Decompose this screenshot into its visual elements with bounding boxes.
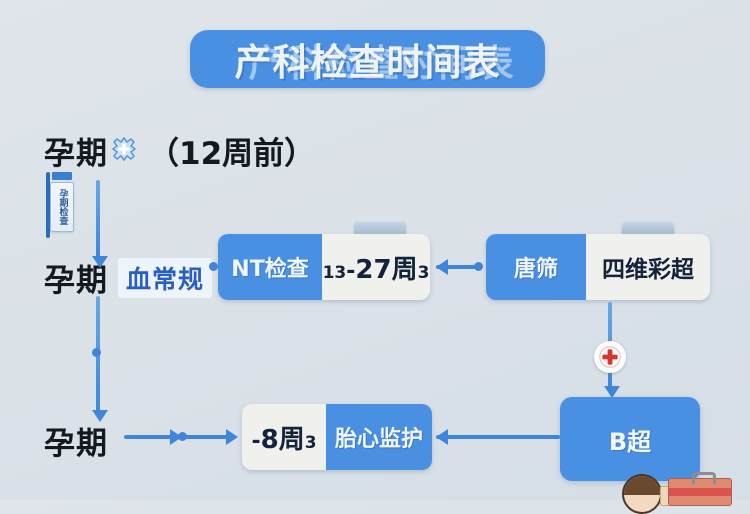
node-nt-exam[interactable]: NT检查: [218, 234, 322, 300]
doctor-hair: [624, 476, 660, 495]
node-week-range-1: 13 - 27 周 3: [322, 234, 430, 300]
week-sup-2: 3: [305, 433, 317, 453]
week-unit-2: 周: [279, 419, 305, 456]
side-tag-text: 孕期检查: [58, 189, 67, 225]
node-fetal-group[interactable]: - 8 周 3 胎心监护: [242, 404, 432, 470]
row-label-pregnancy-3: 孕期: [44, 418, 108, 463]
connector-row3-arrow-2: [226, 429, 238, 445]
blood-test-badge[interactable]: 血常规: [118, 258, 212, 298]
node-tangshai-group[interactable]: 唐筛 四维彩超: [486, 234, 710, 300]
week-dash-1: -: [346, 259, 355, 284]
connector-dot-row2-right: [474, 262, 483, 271]
title-pill: 产科检查时间表 产科检查时间表: [190, 30, 545, 88]
week-dash-2: -: [251, 429, 260, 454]
side-tag-chip: [52, 172, 72, 180]
connector-dot-vline: [92, 348, 101, 357]
connector-row2-arrow-left: [436, 259, 448, 275]
flowchart-canvas: 产科检查时间表 产科检查时间表 孕期 （12周前） 孕期检查 孕期 血常规 NT…: [0, 0, 750, 500]
blue-cross-icon: [112, 137, 136, 161]
connector-vline-upper-arrow: [92, 256, 108, 268]
node-four-d-ultrasound[interactable]: 四维彩超: [586, 234, 710, 300]
node-week-range-2: - 8 周 3: [242, 404, 326, 470]
red-cross-icon: [594, 341, 626, 373]
node-nt-group[interactable]: NT检查 13 - 27 周 3: [218, 234, 430, 300]
week-to-2: 8: [261, 425, 279, 455]
node-tang-screen[interactable]: 唐筛: [486, 234, 586, 300]
connector-dot-row3-a: [178, 432, 187, 441]
week-from-1: 13: [323, 263, 347, 283]
node-fetal-heart-monitor[interactable]: 胎心监护: [326, 404, 432, 470]
week-to-1: 27: [355, 255, 391, 285]
medical-bag-handle: [692, 472, 716, 484]
side-tag-vertical-label: 孕期检查: [50, 182, 74, 232]
connector-dot-nt: [209, 262, 218, 271]
week-sup-1: 3: [418, 263, 430, 283]
medical-bag-icon: [668, 478, 732, 506]
doctor-avatar-icon: [622, 474, 662, 514]
connector-row3-arrow-left: [436, 429, 448, 445]
row-label-pregnancy-1: 孕期: [44, 128, 108, 173]
row1-note: （12周前）: [148, 128, 315, 173]
node-b-ultrasound[interactable]: B超: [560, 397, 700, 481]
connector-row3-line-right: [436, 435, 560, 439]
page-title: 产科检查时间表: [190, 30, 545, 88]
medical-bag-band: [669, 488, 731, 496]
week-unit-1: 周: [392, 249, 418, 286]
connector-vline-upper: [96, 180, 100, 258]
